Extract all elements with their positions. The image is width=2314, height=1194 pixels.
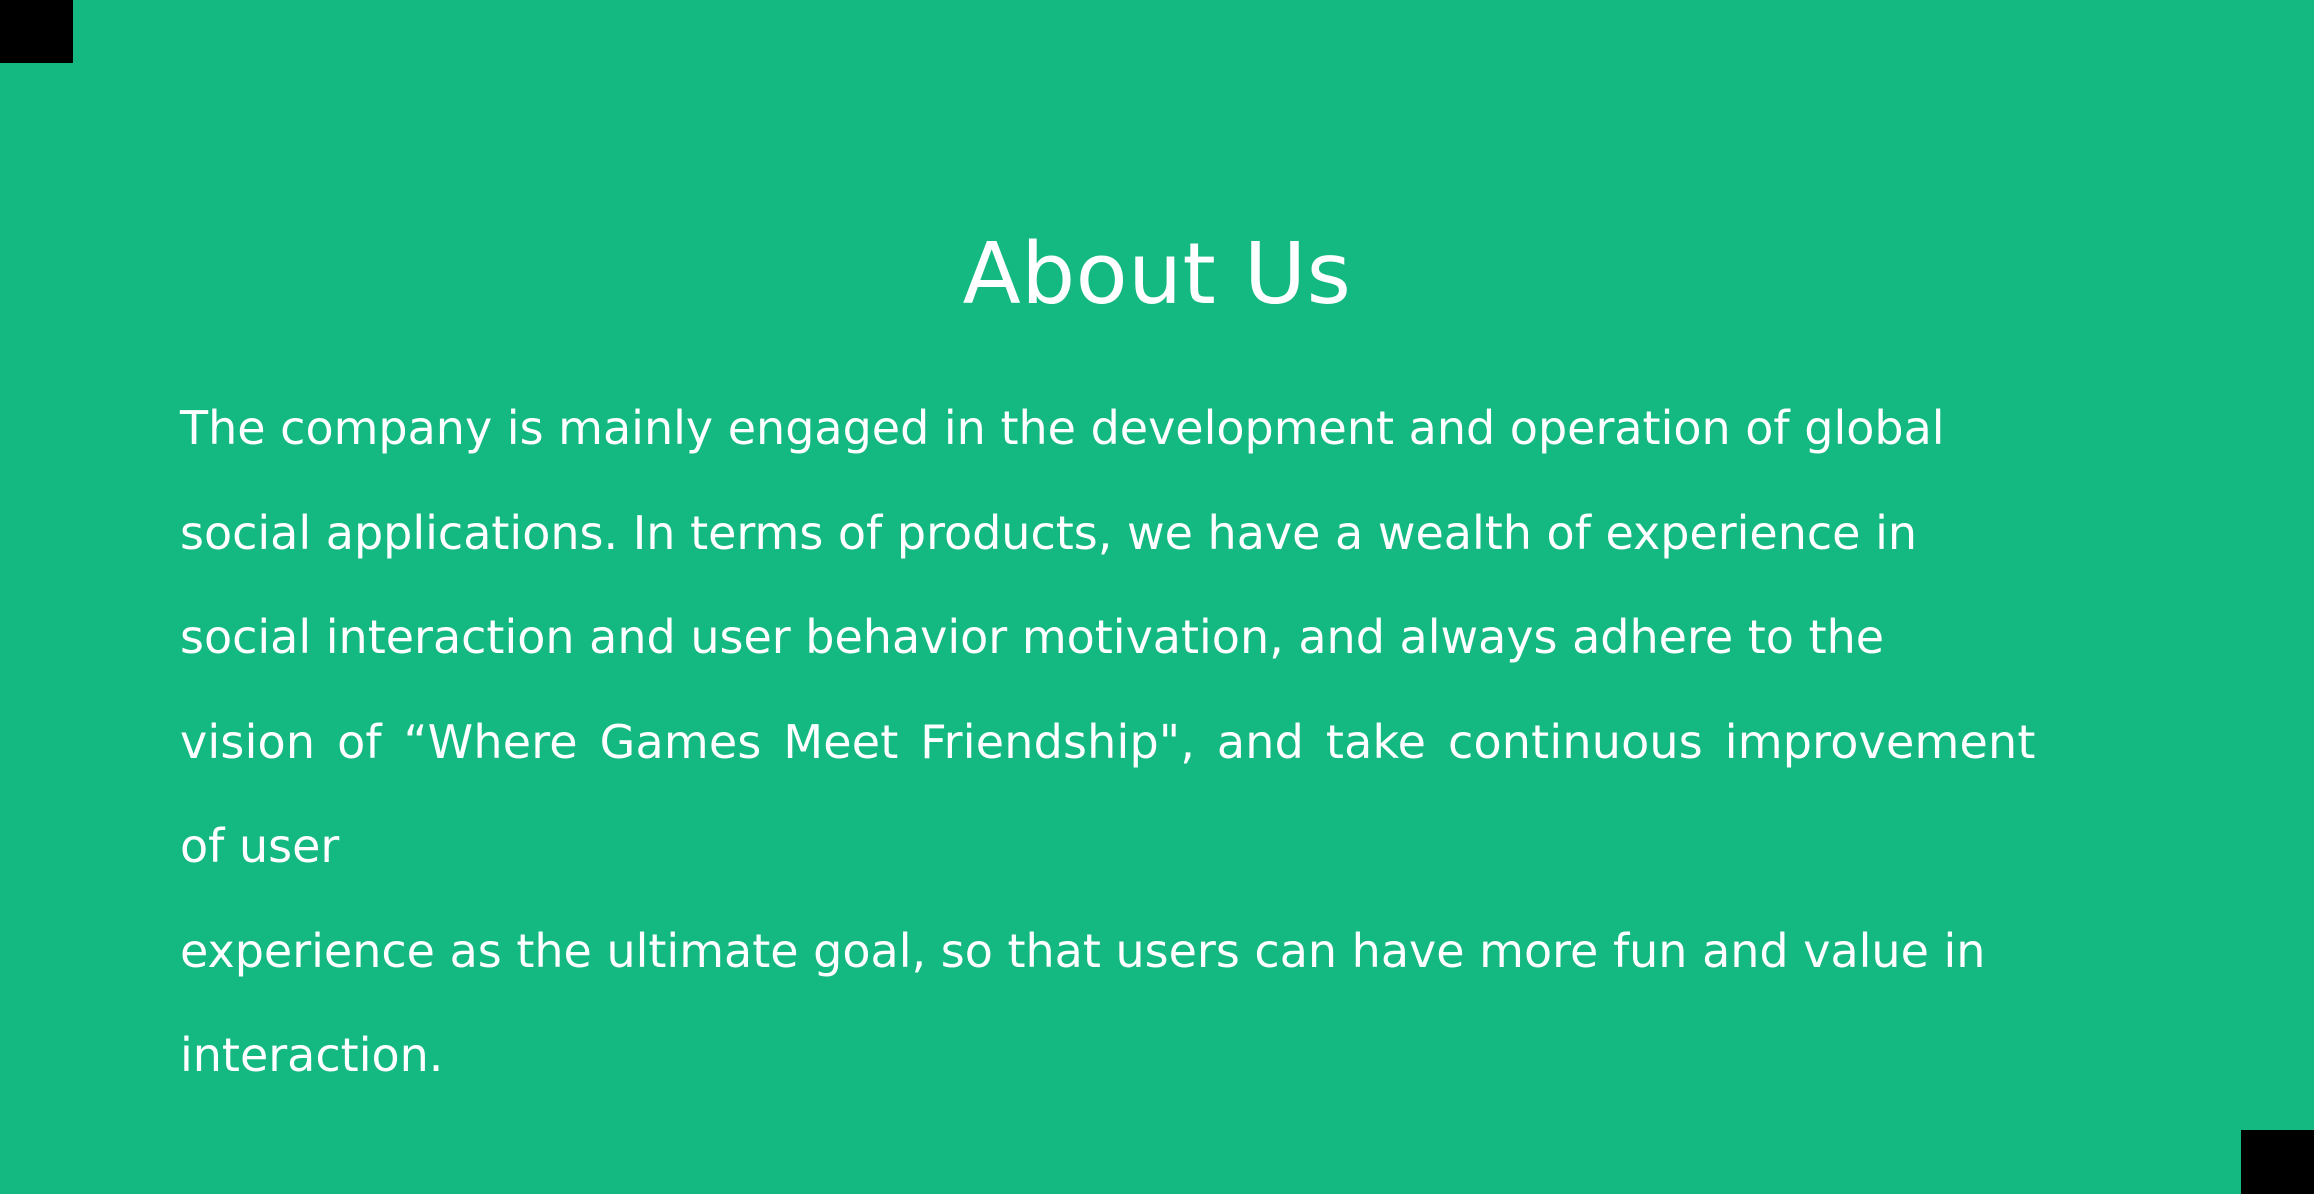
body-line-5: of user [180, 794, 2180, 899]
top-left-decoration-block [0, 0, 73, 63]
page-title: About Us [0, 232, 2314, 317]
about-us-body-text: The company is mainly engaged in the dev… [180, 376, 2180, 1108]
bottom-right-decoration-block [2241, 1130, 2314, 1194]
about-us-slide: About Us The company is mainly engaged i… [0, 0, 2314, 1194]
body-line-2: social applications. In terms of product… [180, 481, 2180, 586]
body-line-1: The company is mainly engaged in the dev… [180, 376, 2180, 481]
body-line-3: social interaction and user behavior mot… [180, 585, 2180, 690]
body-line-4: vision of “Where Games Meet Friendship",… [180, 690, 2180, 795]
body-line-6: experience as the ultimate goal, so that… [180, 899, 2180, 1004]
body-line-7: interaction. [180, 1003, 2180, 1108]
